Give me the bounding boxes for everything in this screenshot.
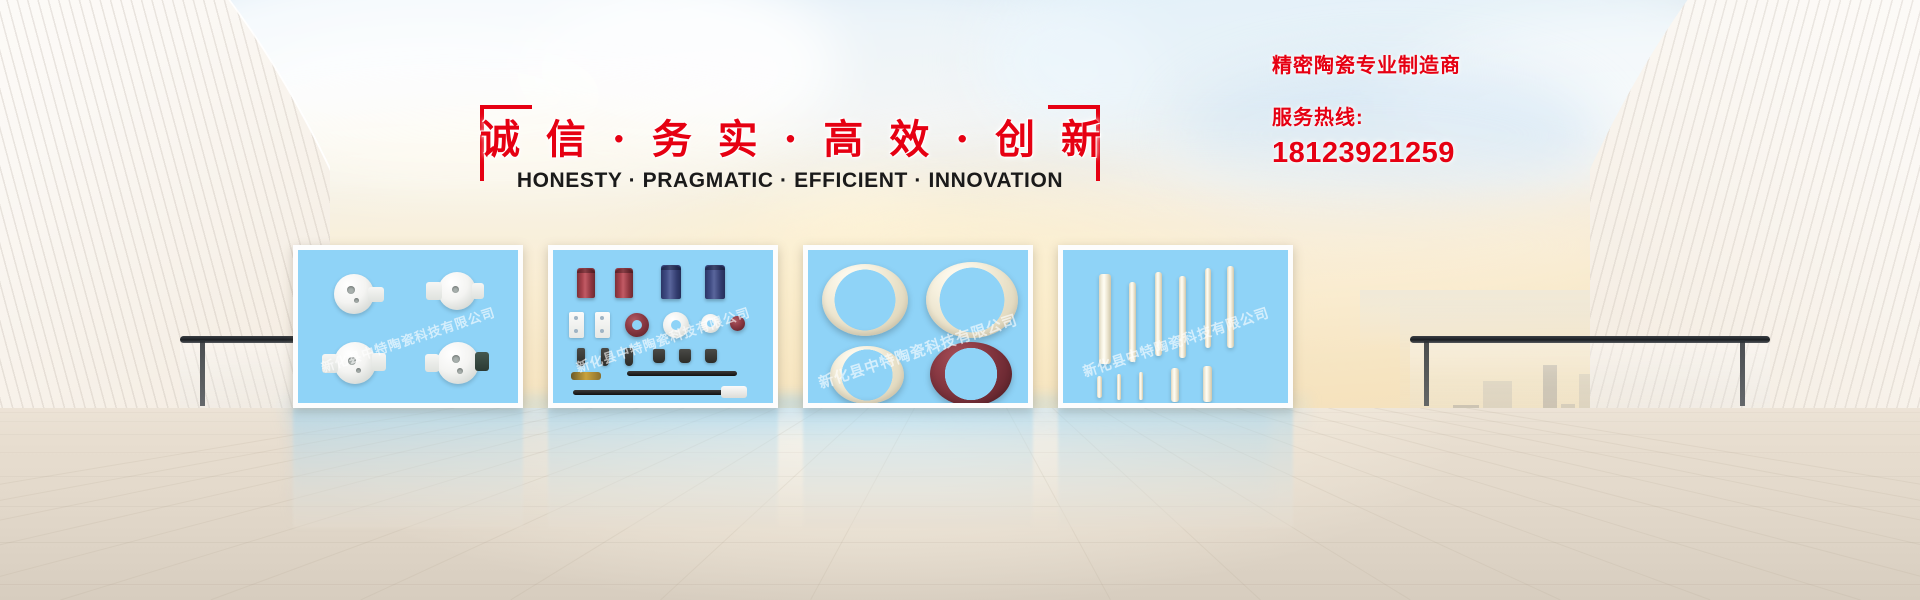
- ceramic-rod: [1179, 276, 1186, 358]
- holder-tab: [426, 282, 442, 300]
- product-panel-2[interactable]: 新化县中特陶瓷科技有限公司: [548, 245, 778, 408]
- contact-block: 精密陶瓷专业制造商 服务热线: 18123921259: [1272, 54, 1602, 170]
- ceramic-rod: [1099, 274, 1111, 364]
- product-panel-group: 新化县中特陶瓷科技有限公司: [293, 245, 1293, 408]
- ceramic-rod-small: [1117, 374, 1121, 400]
- ceramic-seal-ring-maroon: [930, 342, 1012, 406]
- product-panel-4[interactable]: 新化县中特陶瓷科技有限公司: [1058, 245, 1293, 408]
- glass-railing-right: [1410, 336, 1770, 416]
- ceramic-seal-ring: [830, 346, 904, 404]
- ceramic-seal-ring: [822, 264, 908, 336]
- ceramic-rod: [1155, 272, 1162, 356]
- hotline-number[interactable]: 18123921259: [1272, 137, 1602, 170]
- railing-post: [200, 340, 205, 406]
- holder-tab: [472, 283, 484, 299]
- ceramic-rod-small: [1097, 376, 1102, 398]
- ceramic-rod-small: [1139, 372, 1143, 400]
- ceramic-plate: [595, 312, 610, 338]
- ceramic-lamp-holder: [438, 272, 476, 310]
- ceramic-tube-red: [577, 268, 595, 298]
- holder-tab: [368, 287, 384, 302]
- reflection-fade: [803, 408, 1033, 528]
- holder-tab: [425, 354, 439, 372]
- ceramic-tube-red: [615, 268, 633, 298]
- reflection-fade: [293, 408, 523, 528]
- slogan-english: HONESTY · PRAGMATIC · EFFICIENT · INNOVA…: [468, 169, 1112, 193]
- black-wire: [573, 390, 723, 395]
- slogan-block: 诚 信 · 务 实 · 高 效 · 创 新 HONESTY · PRAGMATI…: [480, 105, 1100, 205]
- panel-reflection: [548, 408, 778, 528]
- product-panel-1[interactable]: 新化县中特陶瓷科技有限公司: [293, 245, 523, 408]
- ceramic-ring-maroon: [625, 313, 649, 337]
- ceramic-plate: [569, 312, 584, 338]
- wire-connector: [653, 349, 665, 363]
- wire-connector: [625, 348, 633, 366]
- panel-reflection: [1058, 408, 1293, 528]
- wire-connector: [679, 349, 691, 363]
- ceramic-tube-blue: [705, 265, 725, 299]
- floor-seam: [0, 584, 1920, 585]
- ceramic-tube-blue: [661, 265, 681, 299]
- panel-reflection: [293, 408, 523, 528]
- ceramic-rod-small: [1203, 366, 1212, 402]
- floor-seam: [0, 542, 1920, 543]
- holder-tab: [322, 354, 338, 373]
- railing-post: [1424, 340, 1429, 406]
- slogan-chinese: 诚 信 · 务 实 · 高 效 · 创 新: [480, 107, 1100, 165]
- floor-seam: [1466, 408, 1920, 600]
- ceramic-lamp-holder: [334, 342, 376, 384]
- railing-handrail: [1410, 336, 1770, 343]
- ceramic-rod: [1227, 266, 1234, 348]
- ceramic-rod-small: [1171, 368, 1179, 402]
- hotline-label: 服务热线:: [1272, 101, 1602, 130]
- ceramic-ring-maroon: [730, 316, 745, 331]
- holder-tab: [372, 353, 386, 371]
- holder-contact: [475, 352, 489, 371]
- railing-post: [1740, 340, 1745, 406]
- railing-glass: [1410, 343, 1770, 416]
- hero-banner: 诚 信 · 务 实 · 高 效 · 创 新 HONESTY · PRAGMATI…: [0, 0, 1920, 600]
- ceramic-rod: [1205, 268, 1211, 348]
- wired-assembly: [571, 370, 631, 380]
- wire-connector: [577, 348, 585, 366]
- ceramic-ring-white: [701, 314, 720, 333]
- wire-connector: [601, 348, 609, 366]
- ceramic-seal-ring: [926, 262, 1018, 338]
- ceramic-lamp-holder: [437, 342, 479, 384]
- reflection-fade: [1058, 408, 1293, 528]
- company-tagline: 精密陶瓷专业制造商: [1272, 54, 1602, 79]
- ceramic-rod: [1129, 282, 1136, 362]
- black-wire: [627, 371, 737, 376]
- product-panel-3[interactable]: 新化县中特陶瓷科技有限公司: [803, 245, 1033, 408]
- wire-connector: [705, 349, 717, 363]
- reflection-fade: [548, 408, 778, 528]
- panel-reflection: [803, 408, 1033, 528]
- wire-terminal: [721, 386, 747, 398]
- ceramic-ring-white: [663, 312, 689, 338]
